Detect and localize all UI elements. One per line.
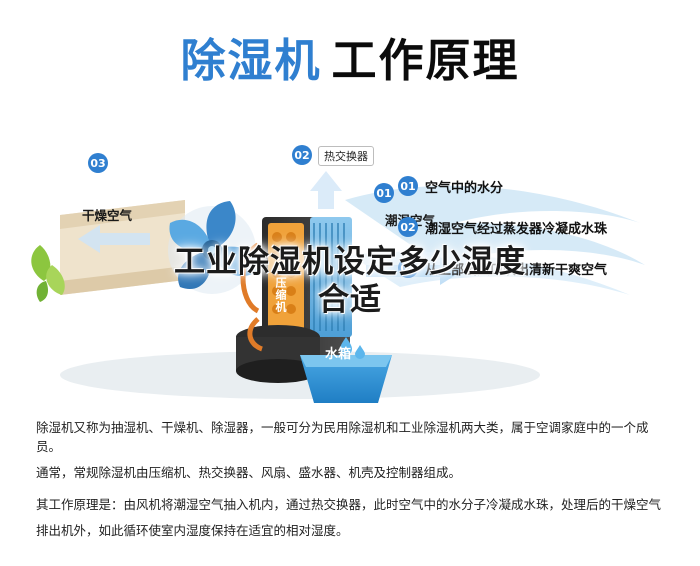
step-item-03: 03 从上部出风口吹出清新干爽空气: [398, 258, 607, 278]
body-paragraph-3: 其工作原理是：由风机将潮湿空气抽入机内，通过热交换器，此时空气中的水分子冷凝成水…: [36, 495, 664, 514]
step-item-01: 01 空气中的水分: [398, 176, 607, 196]
steps-list: 01 空气中的水分 02 潮湿空气经过蒸发器冷凝成水珠 03 从上部出风口吹出清…: [398, 176, 607, 299]
body-paragraph-3-lead: 其工作原理是：: [36, 497, 124, 512]
label-compressor: 压缩机: [272, 277, 288, 313]
step-text-01: 空气中的水分: [425, 177, 503, 196]
badge-03-left: 03: [88, 153, 108, 173]
page-title-part1: 除湿机: [180, 34, 321, 87]
step-badge-03: 03: [398, 258, 418, 278]
label-heat-exchanger: 热交换器: [318, 146, 374, 166]
leaf-icon-3: [37, 281, 48, 302]
heat-exchanger-panel: [310, 217, 352, 337]
step-text-02: 潮湿空气经过蒸发器冷凝成水珠: [425, 218, 607, 237]
body-paragraph-3-text: 由风机将潮湿空气抽入机内，通过热交换器，此时空气中的水分子冷凝成水珠，处理后的干…: [124, 497, 662, 512]
badge-01-right: 01: [374, 183, 394, 203]
outlet-arrow-up: [310, 171, 342, 209]
step-item-02: 02 潮湿空气经过蒸发器冷凝成水珠: [398, 217, 607, 237]
body-paragraph-1: 除湿机又称为抽湿机、干燥机、除湿器，一般可分为民用除湿机和工业除湿机两大类，属于…: [36, 418, 664, 456]
step-badge-01: 01: [398, 176, 418, 196]
body-paragraph-4: 排出机外，如此循环使室内湿度保持在适宜的相对湿度。: [36, 521, 664, 540]
badge-02-top: 02: [292, 145, 312, 165]
step-badge-02: 02: [398, 217, 418, 237]
page-title-part2: 工作原理: [332, 34, 520, 87]
label-water-tank: 水箱: [325, 343, 351, 362]
page-title: 除湿机工作原理: [0, 24, 700, 89]
poster-root: 除湿机工作原理: [0, 0, 700, 566]
body-paragraph-2: 通常，常规除湿机由压缩机、热交换器、风扇、盛水器、机壳及控制器组成。: [36, 463, 664, 482]
body-text: 除湿机又称为抽湿机、干燥机、除湿器，一般可分为民用除湿机和工业除湿机两大类，属于…: [36, 418, 664, 547]
label-dry-air: 干燥空气: [82, 205, 132, 224]
step-text-03: 从上部出风口吹出清新干爽空气: [425, 259, 607, 278]
